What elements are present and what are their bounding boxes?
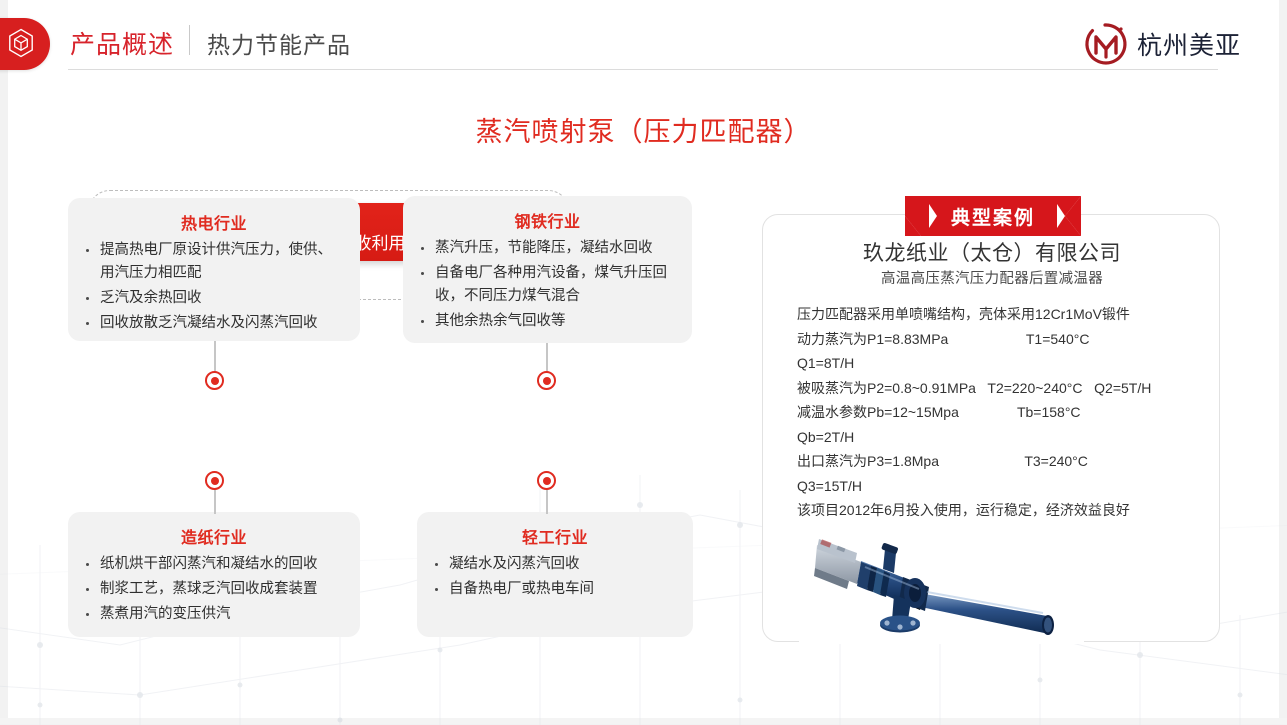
pump-illustration xyxy=(799,531,1084,644)
card-title: 热电行业 xyxy=(82,210,346,234)
industry-card-paper[interactable]: 造纸行业 纸机烘干部闪蒸汽和凝结水的回收 制浆工艺，蒸球乏汽回收成套装置 蒸煮用… xyxy=(68,512,360,637)
product-badge xyxy=(0,18,50,70)
header-divider xyxy=(189,25,190,55)
list-item: 其他余热余气回收等 xyxy=(417,310,678,333)
meiya-m-logo-icon xyxy=(1083,21,1129,67)
list-item: 纸机烘干部闪蒸汽和凝结水的回收 xyxy=(82,553,346,576)
slide-canvas: 产品概述 热力节能产品 杭州美亚 蒸汽喷射泵（压力匹配器） 应用 蒸汽压力匹配乏… xyxy=(0,0,1287,725)
cube-hexagon-icon xyxy=(8,28,34,58)
company-logo-text: 杭州美亚 xyxy=(1137,26,1241,62)
list-item: 提高热电厂原设计供汽压力，使供、用汽压力相匹配 xyxy=(82,239,346,285)
spec-line: 动力蒸汽为P1=8.83MPa T1=540°C xyxy=(797,327,1207,352)
connector-line-bottom-left xyxy=(214,488,216,514)
card-bullet-list: 纸机烘干部闪蒸汽和凝结水的回收 制浆工艺，蒸球乏汽回收成套装置 蒸煮用汽的变压供… xyxy=(82,553,346,626)
card-title: 钢铁行业 xyxy=(417,208,678,232)
list-item: 自备热电厂或热电车间 xyxy=(431,578,679,601)
node-bottom-left xyxy=(205,471,224,490)
spec-line: 减温水参数Pb=12~15Mpa Tb=158°C xyxy=(797,400,1207,425)
list-item: 凝结水及闪蒸汽回收 xyxy=(431,553,679,576)
header-rule xyxy=(68,69,1218,70)
list-item: 乏汽及余热回收 xyxy=(82,287,346,310)
node-top-left xyxy=(205,371,224,390)
connector-line-top-right xyxy=(546,343,548,373)
industry-card-thermal-power[interactable]: 热电行业 提高热电厂原设计供汽压力，使供、用汽压力相匹配 乏汽及余热回收 回收放… xyxy=(68,198,360,341)
case-company-name: 玖龙纸业（太仓）有限公司 xyxy=(763,237,1221,267)
card-bullet-list: 蒸汽升压，节能降压，凝结水回收 自备电厂各种用汽设备，煤气升压回收，不同压力煤气… xyxy=(417,237,678,333)
spec-line: 该项目2012年6月投入使用，运行稳定，经济效益良好 xyxy=(797,498,1207,523)
case-study-panel: 玖龙纸业（太仓）有限公司 高温高压蒸汽压力配器后置减温器 压力匹配器采用单喷嘴结… xyxy=(762,214,1220,642)
page-edge-left xyxy=(0,0,8,725)
list-item: 自备电厂各种用汽设备，煤气升压回收，不同压力煤气混合 xyxy=(417,262,678,308)
spec-line: Qb=2T/H xyxy=(797,425,1207,450)
spec-line: 压力匹配器采用单喷嘴结构，壳体采用12Cr1MoV锻件 xyxy=(797,302,1207,327)
node-top-right xyxy=(537,371,556,390)
case-subtitle: 高温高压蒸汽压力配器后置减温器 xyxy=(763,267,1221,288)
connector-line-top-left xyxy=(214,341,216,373)
list-item: 制浆工艺，蒸球乏汽回收成套装置 xyxy=(82,578,346,601)
header-subtitle: 热力节能产品 xyxy=(207,26,351,60)
company-logo: 杭州美亚 xyxy=(1083,21,1241,67)
steam-ejector-pump-photo xyxy=(799,531,1084,644)
page-title: 蒸汽喷射泵（压力匹配器） xyxy=(0,110,1287,149)
industry-card-steel[interactable]: 钢铁行业 蒸汽升压，节能降压，凝结水回收 自备电厂各种用汽设备，煤气升压回收，不… xyxy=(403,196,692,343)
card-bullet-list: 凝结水及闪蒸汽回收 自备热电厂或热电车间 xyxy=(431,553,679,601)
list-item: 蒸煮用汽的变压供汽 xyxy=(82,603,346,626)
page-edge-bottom xyxy=(0,718,1287,725)
case-ribbon-label: 典型案例 xyxy=(905,196,1081,236)
page-header: 产品概述 热力节能产品 杭州美亚 xyxy=(0,0,1287,88)
connector-line-bottom-right xyxy=(546,488,548,514)
list-item: 蒸汽升压，节能降压，凝结水回收 xyxy=(417,237,678,260)
spec-line: Q3=15T/H xyxy=(797,474,1207,499)
spec-line: 被吸蒸汽为P2=0.8~0.91MPa T2=220~240°C Q2=5T/H xyxy=(797,376,1207,401)
card-title: 造纸行业 xyxy=(82,524,346,548)
card-title: 轻工行业 xyxy=(431,524,679,548)
case-spec-list: 压力匹配器采用单喷嘴结构，壳体采用12Cr1MoV锻件 动力蒸汽为P1=8.83… xyxy=(797,302,1207,523)
card-bullet-list: 提高热电厂原设计供汽压力，使供、用汽压力相匹配 乏汽及余热回收 回收放散乏汽凝结… xyxy=(82,239,346,335)
industry-card-light-industry[interactable]: 轻工行业 凝结水及闪蒸汽回收 自备热电厂或热电车间 xyxy=(417,512,693,637)
spec-line: Q1=8T/H xyxy=(797,351,1207,376)
node-bottom-right xyxy=(537,471,556,490)
list-item: 回收放散乏汽凝结水及闪蒸汽回收 xyxy=(82,312,346,335)
page-edge-right xyxy=(1279,0,1287,725)
header-title: 产品概述 xyxy=(70,25,174,61)
spec-line: 出口蒸汽为P3=1.8Mpa T3=240°C xyxy=(797,449,1207,474)
